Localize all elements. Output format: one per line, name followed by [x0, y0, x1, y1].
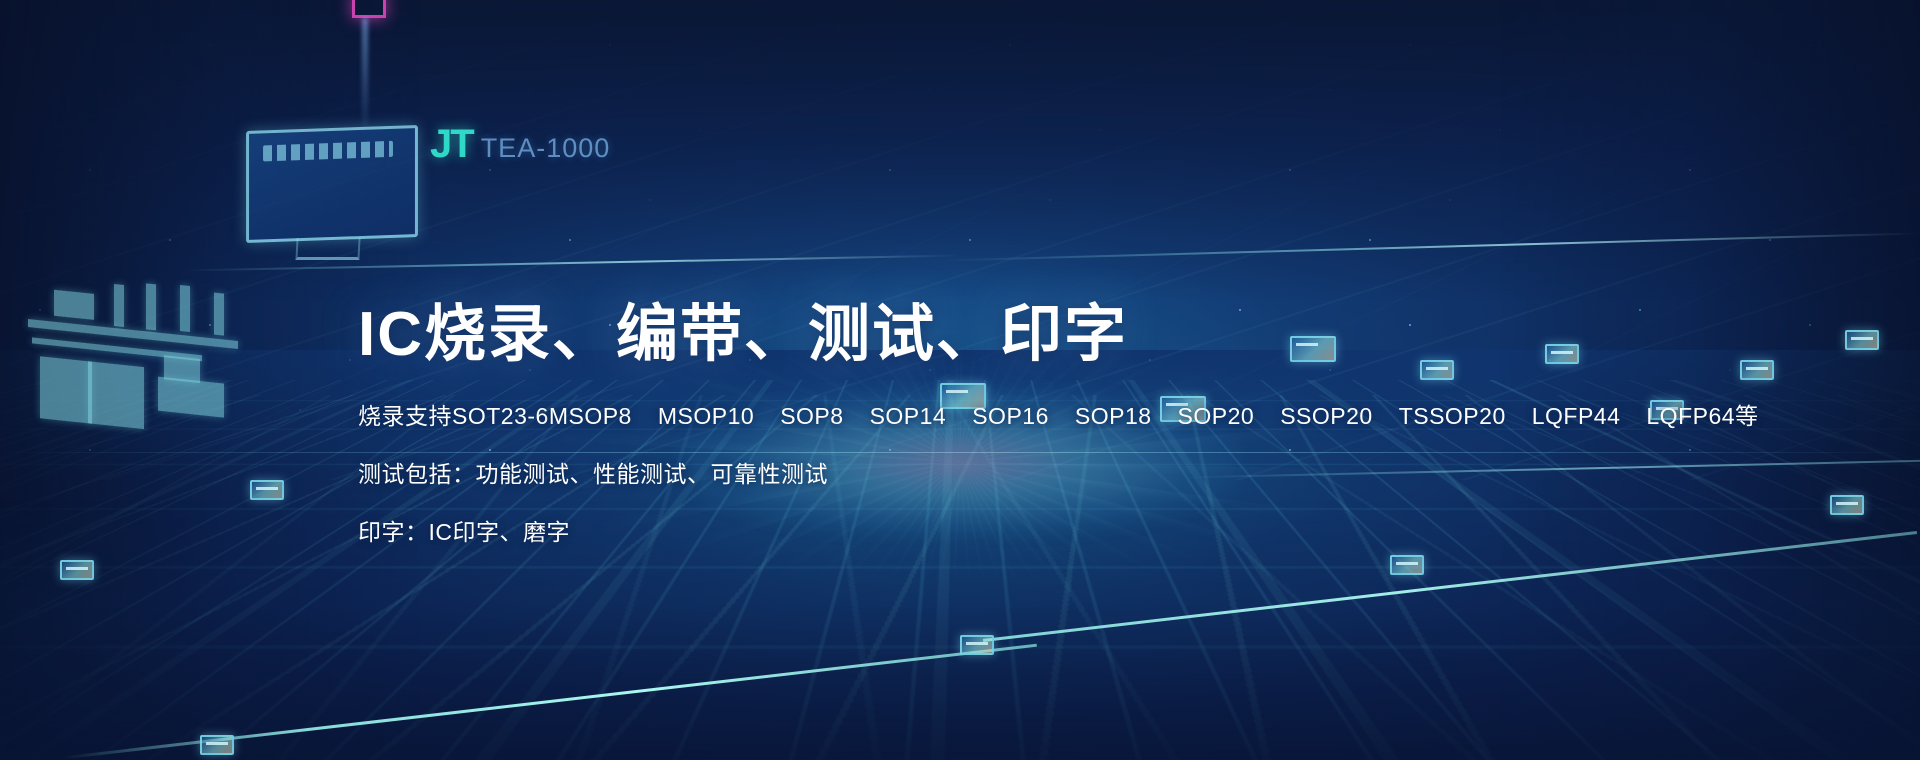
- chip-tray-icon: [200, 735, 234, 755]
- package-type-label: LQFP64等: [1646, 403, 1758, 429]
- package-type-label: MSOP10: [658, 403, 754, 429]
- package-type-label: MSOP8: [549, 403, 632, 429]
- chip-tray-icon: [250, 480, 284, 500]
- machine-part: [88, 361, 92, 423]
- machine-part: [40, 356, 144, 429]
- machinery-illustration: [18, 266, 248, 460]
- page-title: IC烧录、编带、测试、印字: [358, 300, 1759, 369]
- brand-logo-text: JT: [430, 122, 473, 167]
- package-type-label: SOP16: [972, 403, 1049, 429]
- package-type-label: SOP8: [780, 403, 843, 429]
- package-type-label: SOP18: [1075, 403, 1152, 429]
- machine-part: [214, 293, 224, 336]
- chip-tray-icon: [60, 560, 94, 580]
- burn-support-line: 烧录支持SOT23-6MSOP8MSOP10SOP8SOP14SOP16SOP1…: [358, 405, 1759, 428]
- package-type-label: LQFP44: [1532, 403, 1621, 429]
- banner-content: IC烧录、编带、测试、印字 烧录支持SOT23-6MSOP8MSOP10SOP8…: [358, 300, 1759, 544]
- marking-service-line: 印字：IC印字、磨字: [358, 521, 1759, 544]
- test-scope-line: 测试包括：功能测试、性能测试、可靠性测试: [358, 463, 1759, 486]
- package-type-label: SOP14: [870, 403, 947, 429]
- package-list: MSOP8MSOP10SOP8SOP14SOP16SOP18SOP20SSOP2…: [549, 403, 1759, 429]
- chip-tray-icon: [1845, 330, 1879, 350]
- package-type-label: SOP20: [1178, 403, 1255, 429]
- machine-part: [146, 283, 156, 330]
- equipment-logo: JT TEA-1000: [430, 122, 610, 167]
- banner-detail-lines: 烧录支持SOT23-6MSOP8MSOP10SOP8SOP14SOP16SOP1…: [358, 405, 1759, 544]
- burn-prefix-label: 烧录支持SOT23-6: [358, 403, 549, 429]
- monitor-illustration: [246, 125, 418, 243]
- machine-part: [54, 290, 94, 320]
- package-type-label: TSSOP20: [1399, 403, 1506, 429]
- machine-part: [114, 284, 124, 327]
- machine-part: [180, 285, 190, 332]
- chip-tray-icon: [1830, 495, 1864, 515]
- machine-part: [158, 377, 224, 418]
- monitor-stand: [295, 238, 360, 260]
- magenta-marker-beam: [362, 18, 368, 138]
- machine-part: [164, 355, 200, 383]
- magenta-marker-icon: [352, 0, 386, 18]
- equipment-model-text: TEA-1000: [481, 133, 611, 164]
- package-type-label: SSOP20: [1280, 403, 1373, 429]
- chip-tray-icon: [1390, 555, 1424, 575]
- chip-tray-icon: [960, 635, 994, 655]
- promo-banner: JT TEA-1000 IC烧录、编带、测试、印字 烧录支持SOT23-6MSO…: [0, 0, 1920, 760]
